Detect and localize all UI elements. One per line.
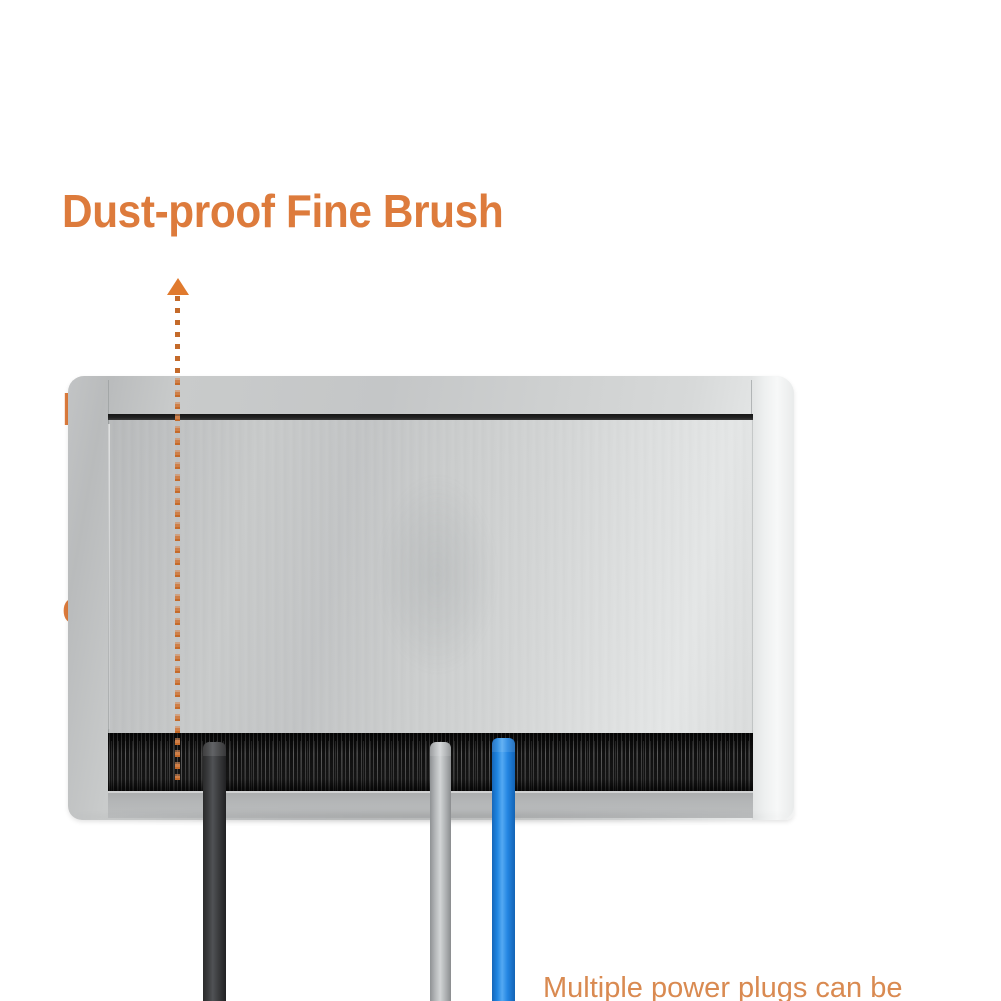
brushed-metal-panel xyxy=(108,420,753,735)
product-feature-image: Dust-proof Fine Brush Effectively protec… xyxy=(0,0,1001,1001)
headline-line-1: Dust-proof Fine Brush xyxy=(62,178,899,244)
gray-cable xyxy=(430,742,451,1001)
blue-cable-tip xyxy=(492,738,515,752)
panel-reflection-smudge xyxy=(379,477,495,672)
right-flange-strip xyxy=(752,376,794,820)
caption-line-1: Multiple power plugs can be xyxy=(543,962,983,1001)
caption: Multiple power plugs can be plugged in a… xyxy=(543,858,983,1001)
panel-left-highlight xyxy=(108,424,110,729)
blue-cable xyxy=(492,738,515,1001)
black-cable xyxy=(203,742,226,1001)
black-cable-tip xyxy=(203,742,226,756)
gray-cable-tip xyxy=(430,742,451,756)
